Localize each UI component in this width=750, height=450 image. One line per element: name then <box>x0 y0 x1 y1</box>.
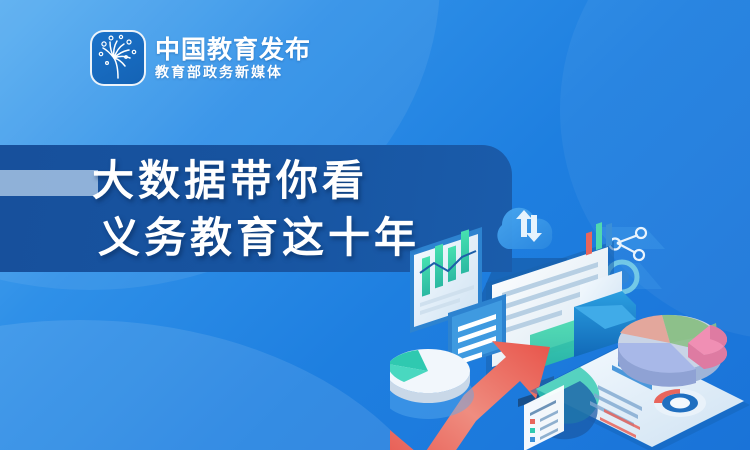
brand-logo-text: 中国教育发布 教育部政务新媒体 <box>155 37 311 80</box>
cloud-sync-icon <box>497 208 552 249</box>
donut-chart <box>654 389 706 417</box>
brand-title: 中国教育发布 <box>155 37 311 62</box>
pie-chart-left <box>390 349 474 419</box>
banner-accent-bar <box>0 170 98 196</box>
headline-line-2: 义务教育这十年 <box>92 209 420 266</box>
data-analytics-illustration <box>390 185 750 450</box>
headline-line-1: 大数据带你看 <box>92 152 420 209</box>
brand-logo: 中国教育发布 教育部政务新媒体 <box>90 30 311 86</box>
pie-chart-right <box>618 315 727 387</box>
brand-subtitle: 教育部政务新媒体 <box>155 66 311 80</box>
headline-text: 大数据带你看 义务教育这十年 <box>92 152 420 266</box>
dandelion-icon <box>90 30 146 86</box>
poster-root: 中国教育发布 教育部政务新媒体 大数据带你看 义务教育这十年 <box>0 0 750 450</box>
